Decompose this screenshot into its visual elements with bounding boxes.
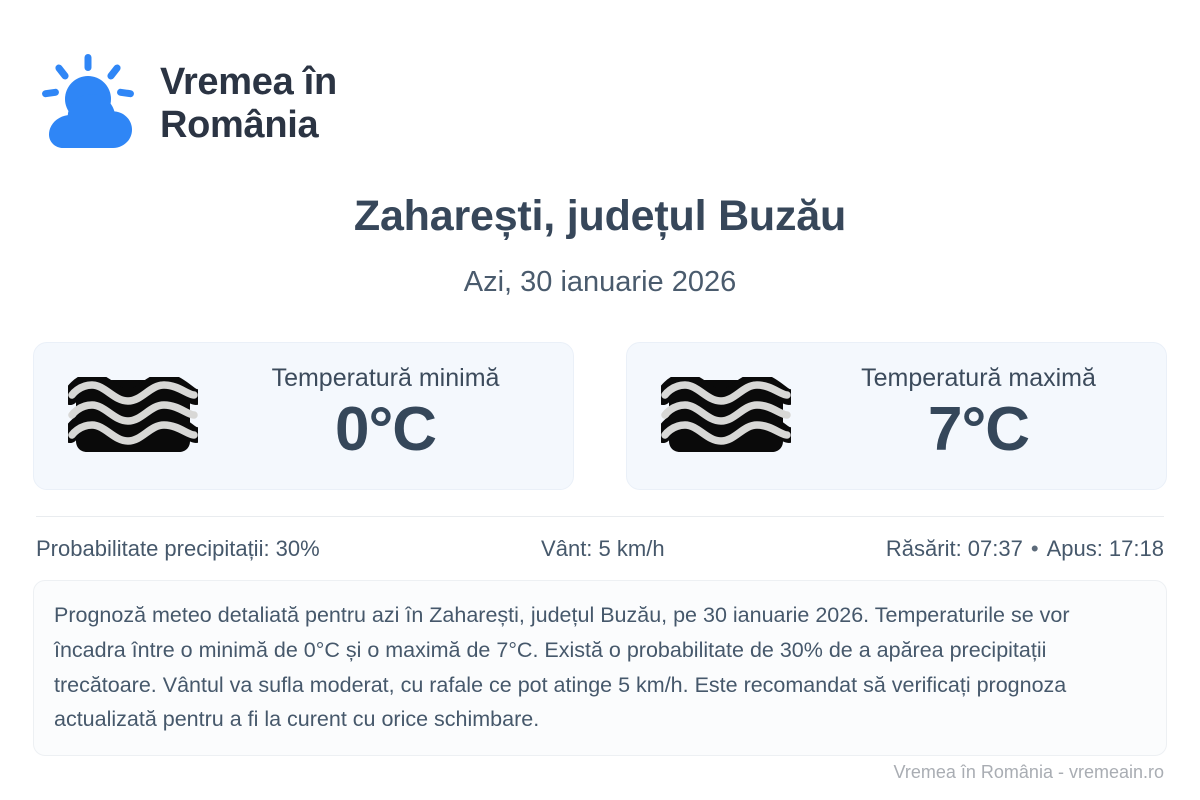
- page-title: Zaharești, județul Buzău: [0, 192, 1200, 241]
- waves-icon: [68, 377, 198, 455]
- card-min-temperature: Temperatură minimă 0°C: [33, 342, 574, 490]
- stat-wind: Vânt: 5 km/h: [320, 536, 886, 562]
- card-max-temperature: Temperatură maximă 7°C: [626, 342, 1167, 490]
- weather-page: Vremea în România Zaharești, județul Buz…: [0, 0, 1200, 800]
- site-logo-text: Vremea în România: [160, 61, 337, 146]
- card-min-label: Temperatură minimă: [272, 365, 500, 393]
- page-subtitle-date: Azi, 30 ianuarie 2026: [0, 266, 1200, 299]
- temperature-cards: Temperatură minimă 0°C Temperatură maxim…: [33, 342, 1167, 490]
- waves-icon: [661, 377, 791, 455]
- card-min-value: 0°C: [335, 394, 436, 465]
- footer-credit: Vremea în România - vremeain.ro: [894, 762, 1164, 783]
- stat-separator: •: [1023, 536, 1047, 561]
- stats-divider: [36, 516, 1164, 517]
- card-max-body: Temperatură maximă 7°C: [817, 365, 1140, 468]
- stat-sunset: Apus: 17:18: [1047, 536, 1164, 561]
- sun-behind-cloud-icon: [36, 52, 140, 156]
- stat-precipitation: Probabilitate precipitații: 30%: [36, 536, 320, 562]
- card-max-label: Temperatură maximă: [861, 365, 1096, 393]
- card-max-value: 7°C: [928, 394, 1029, 465]
- forecast-description: Prognoză meteo detaliată pentru azi în Z…: [33, 580, 1167, 756]
- site-logo[interactable]: Vremea în România: [36, 52, 337, 156]
- stats-row: Probabilitate precipitații: 30% Vânt: 5 …: [36, 536, 1164, 562]
- card-min-body: Temperatură minimă 0°C: [224, 365, 547, 468]
- stat-sun-times: Răsărit: 07:37•Apus: 17:18: [886, 536, 1164, 562]
- stat-sunrise: Răsărit: 07:37: [886, 536, 1023, 561]
